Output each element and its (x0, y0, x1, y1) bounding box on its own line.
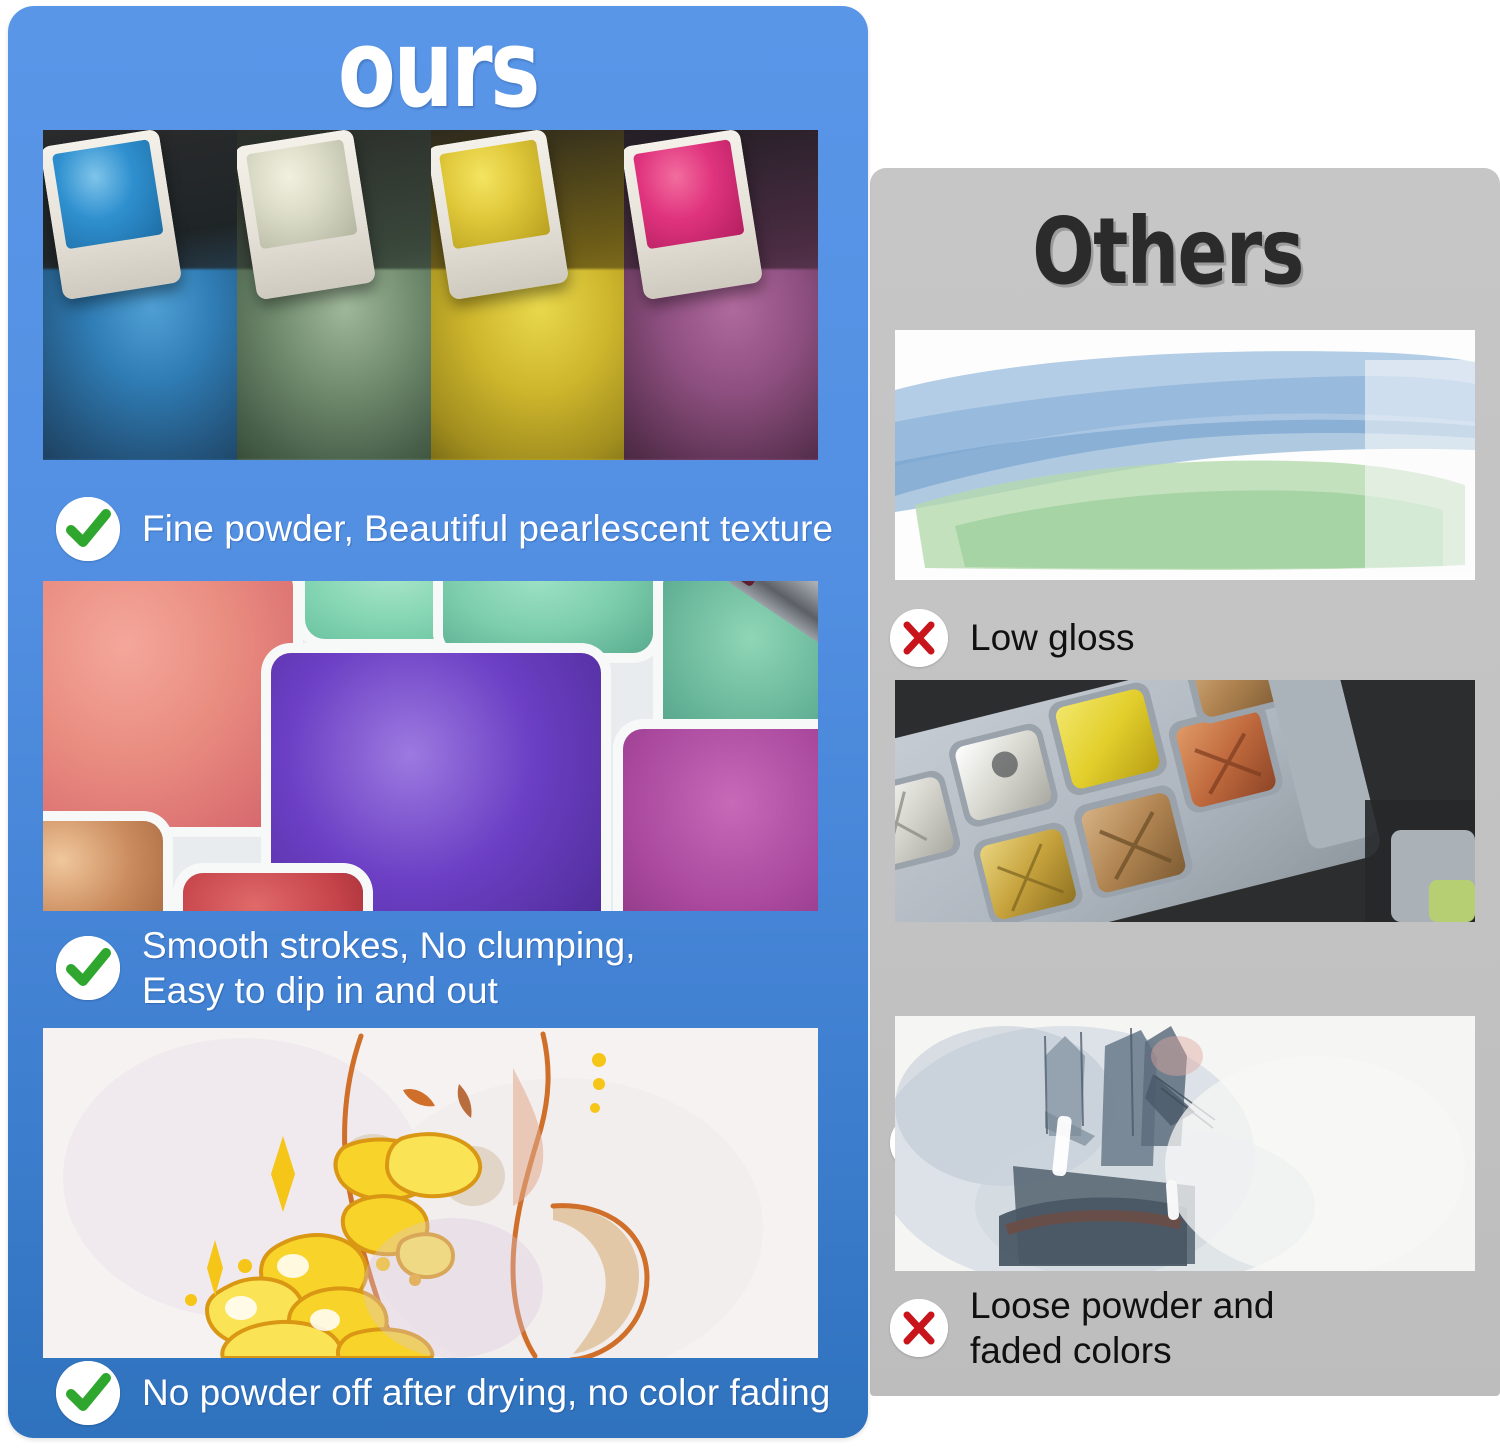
comparison-infographic: Others (0, 0, 1500, 1450)
swatch-cell-gold-pearl (431, 130, 625, 460)
pan-copper (43, 821, 163, 911)
ours-image-smooth-strokes (43, 581, 818, 911)
ours-caption-label: No powder off after drying, no color fad… (142, 1370, 830, 1415)
others-image-loose-powder (895, 1016, 1475, 1271)
ours-caption-no-powder-off: No powder off after drying, no color fad… (56, 1358, 846, 1428)
check-icon (56, 497, 120, 561)
others-caption-label: Low gloss (970, 615, 1135, 660)
cat-art (43, 1028, 818, 1358)
others-image-low-gloss (895, 330, 1475, 580)
others-caption-low-gloss: Low gloss (890, 603, 1490, 673)
paint-pan (237, 130, 376, 300)
pan-paint (51, 139, 163, 249)
others-image-caking (895, 680, 1475, 922)
swatch-cell-blue-pearl (43, 130, 237, 460)
pan-magenta (623, 729, 818, 911)
check-icon (56, 1361, 120, 1425)
others-panel: Others (870, 168, 1500, 1396)
paint-pan (43, 130, 182, 300)
ours-panel: ours (8, 6, 868, 1438)
tray-art (895, 680, 1475, 922)
dull-blue-green-wash (895, 330, 1475, 580)
pearlescent-paint-pans-strip (43, 130, 818, 460)
pan-coral-pink (43, 581, 293, 827)
ours-caption-label: Fine powder, Beautiful pearlescent textu… (142, 506, 833, 551)
cross-glyph (890, 609, 948, 667)
ours-caption-smooth-strokes: Smooth strokes, No clumping, Easy to dip… (56, 918, 846, 1018)
pan-paint (439, 139, 551, 249)
cross-glyph (890, 1299, 948, 1357)
ours-title: ours (103, 16, 774, 124)
others-caption-loose-powder: Loose powder and faded colors (890, 1278, 1490, 1378)
faded-grey-blue-ship-painting (895, 1016, 1475, 1271)
cross-icon (890, 609, 948, 667)
paint-pan (431, 130, 570, 300)
paint-pan (624, 130, 763, 300)
others-title: Others (930, 208, 1406, 295)
pan-paint (633, 139, 745, 249)
ours-image-fine-powder (43, 130, 818, 460)
palette-closeup-with-brush (43, 581, 818, 911)
cracked-metallic-pans-tray (895, 680, 1475, 922)
gold-cat-watercolor-illustration (43, 1028, 818, 1358)
pan-teal-green-top (443, 581, 653, 653)
pan-red-rose (183, 873, 363, 911)
check-glyph (56, 936, 120, 1000)
pan-paint (245, 139, 357, 249)
ours-image-no-powder-off (43, 1028, 818, 1358)
others-caption-label: Loose powder and faded colors (970, 1283, 1274, 1373)
ours-caption-label: Smooth strokes, No clumping, Easy to dip… (142, 923, 636, 1013)
ship-art (895, 1016, 1475, 1271)
wash-art (895, 330, 1475, 580)
ours-caption-fine-powder: Fine powder, Beautiful pearlescent textu… (56, 494, 846, 564)
check-icon (56, 936, 120, 1000)
swatch-cell-magenta-pearl (624, 130, 818, 460)
check-glyph (56, 1361, 120, 1425)
check-glyph (56, 497, 120, 561)
swatch-cell-silver-sage (237, 130, 431, 460)
cross-icon (890, 1299, 948, 1357)
